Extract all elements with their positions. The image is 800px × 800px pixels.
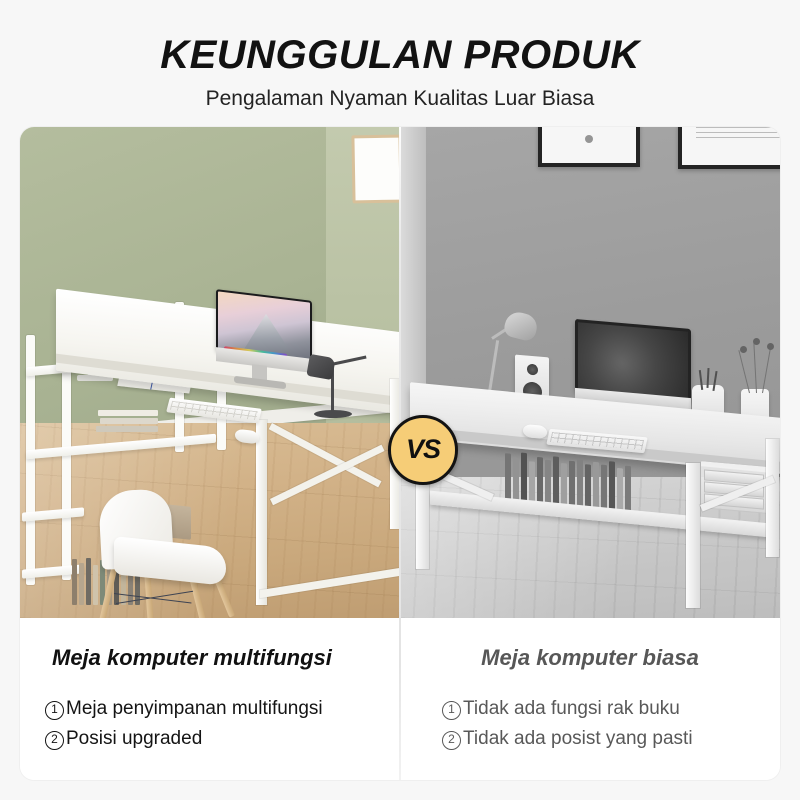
list-text: Tidak ada posist yang pasti bbox=[463, 724, 693, 754]
page-subtitle: Pengalaman Nyaman Kualitas Luar Biasa bbox=[206, 87, 595, 111]
page-title: KEUNGGULAN PRODUK bbox=[160, 33, 640, 77]
flower-bud-3 bbox=[767, 343, 774, 350]
flower-bud-1 bbox=[740, 346, 747, 353]
stacked-books bbox=[96, 410, 158, 432]
list-text: Tidak ada fungsi rak buku bbox=[463, 694, 680, 724]
list-text: Posisi upgraded bbox=[66, 724, 202, 754]
desk-leg-front bbox=[256, 420, 267, 605]
list-item: 1 Tidak ada fungsi rak buku bbox=[442, 694, 693, 724]
right-caption-panel: Meja komputer biasa 1 Tidak ada fungsi r… bbox=[400, 618, 780, 780]
page-header: KEUNGGULAN PRODUK Pengalaman Nyaman Kual… bbox=[0, 0, 800, 127]
left-product-photo bbox=[20, 127, 400, 618]
right-product-photo bbox=[400, 127, 780, 618]
grey-desk-leg-back-right bbox=[766, 439, 779, 557]
list-marker: 2 bbox=[442, 731, 461, 750]
list-marker: 1 bbox=[442, 701, 461, 720]
comparison-card: VS Meja komputer multifungsi 1 Meja peny… bbox=[20, 127, 780, 780]
list-marker: 2 bbox=[45, 731, 64, 750]
right-caption-title: Meja komputer biasa bbox=[400, 645, 780, 671]
grey-desk-leg-front-right bbox=[686, 463, 700, 608]
list-item: 1 Meja penyimpanan multifungsi bbox=[45, 694, 323, 724]
wall-frame-icon bbox=[351, 135, 400, 204]
list-text: Meja penyimpanan multifungsi bbox=[66, 694, 323, 724]
right-feature-list: 1 Tidak ada fungsi rak buku 2 Tidak ada … bbox=[442, 694, 693, 754]
left-caption-title: Meja komputer multifungsi bbox=[52, 645, 332, 671]
list-item: 2 Tidak ada posist yang pasti bbox=[442, 724, 693, 754]
wall-art-circle bbox=[538, 127, 640, 167]
desk-lamp-head bbox=[306, 354, 335, 380]
wall-art-text bbox=[678, 127, 780, 169]
vs-badge: VS bbox=[388, 415, 458, 485]
left-caption-panel: Meja komputer multifungsi 1 Meja penyimp… bbox=[20, 618, 400, 780]
left-feature-list: 1 Meja penyimpanan multifungsi 2 Posisi … bbox=[45, 694, 323, 754]
vs-badge-label: VS bbox=[406, 434, 440, 465]
list-marker: 1 bbox=[45, 701, 64, 720]
list-item: 2 Posisi upgraded bbox=[45, 724, 323, 754]
flower-bud-2 bbox=[753, 338, 760, 345]
